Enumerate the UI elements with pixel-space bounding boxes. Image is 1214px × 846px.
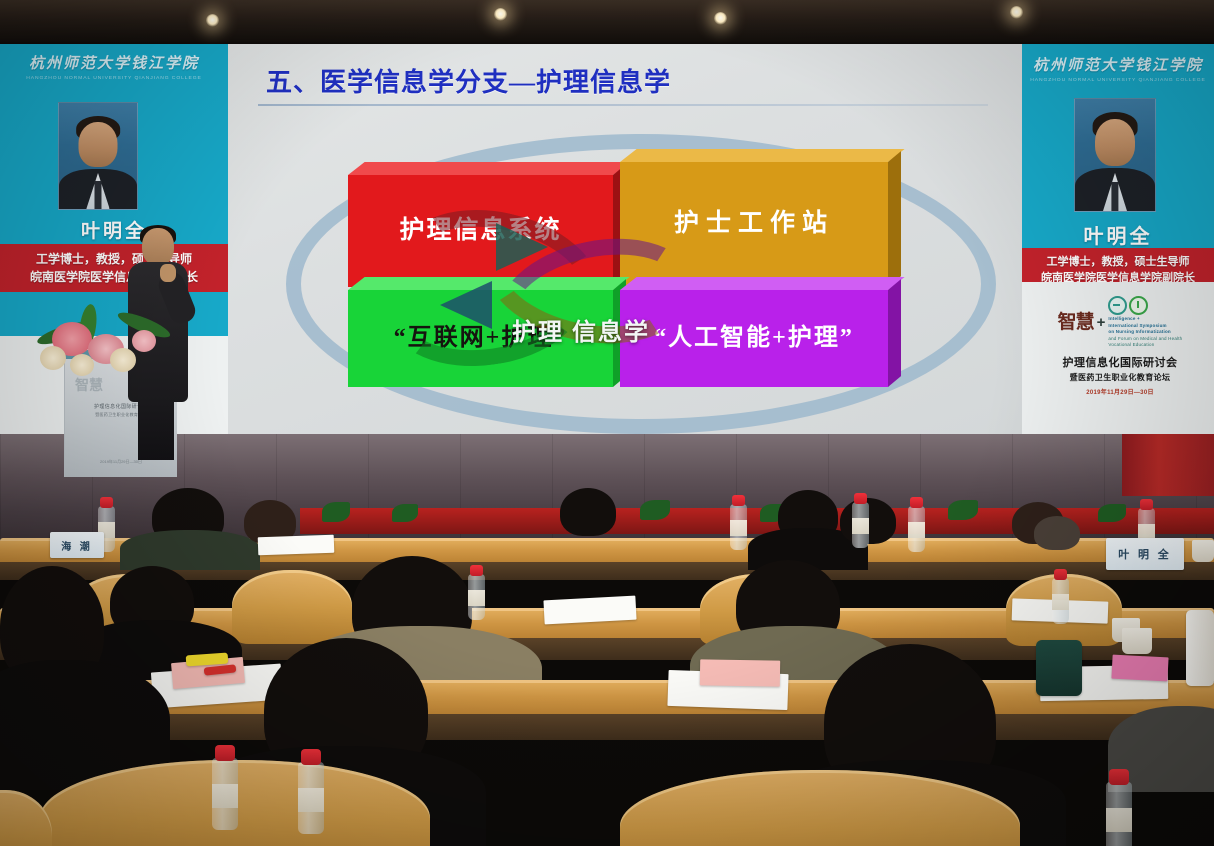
- title-underline: [258, 104, 988, 106]
- conference-en-line-5: Vocational Education: [1108, 342, 1154, 347]
- diagram-block-nursing-information-system: 护理信息系统: [348, 175, 613, 287]
- bottle-label: [908, 522, 925, 538]
- diagram-center-label: 护理 信息学: [456, 312, 706, 347]
- university-logo: 杭州师范大学钱江学院 HANGZHOU NORMAL UNIVERSITY QI…: [1022, 58, 1214, 83]
- portrait-face: [1095, 119, 1135, 166]
- conference-wordmark-cn: 智慧: [1058, 313, 1094, 332]
- portrait-tie: [1111, 182, 1118, 211]
- conference-title-cn: 护理信息化国际研讨会: [1040, 354, 1200, 370]
- presentation-slide: 五、医学信息学分支—护理信息学 护理信息系统 护士工作站 “互联网+护理” “人…: [228, 44, 1022, 434]
- speaker-portrait: [58, 102, 138, 210]
- auditorium-chair-foreground: [0, 790, 52, 846]
- leaf-icon: [1098, 504, 1126, 522]
- leaf-icon: [392, 504, 418, 522]
- bottle-label: [468, 590, 485, 606]
- name-card-haichao: 海 潮: [50, 532, 104, 558]
- ceiling-spotlight: [714, 12, 727, 25]
- water-bottle: [730, 504, 747, 550]
- block-label: 护士工作站: [620, 162, 888, 287]
- speaker-portrait: [1074, 98, 1156, 212]
- flower-icon: [110, 348, 136, 372]
- bottle-label: [852, 518, 869, 534]
- diagram-block-nurse-workstation: 护士工作站: [620, 162, 888, 287]
- university-name-cn: 杭州师范大学钱江学院: [0, 56, 228, 73]
- speaker-name: 叶明全: [1022, 220, 1214, 249]
- presenter-legs: [138, 396, 174, 460]
- bottle-label: [1106, 808, 1132, 832]
- plus-sign-icon: +: [1097, 314, 1106, 331]
- university-name-en: HANGZHOU NORMAL UNIVERSITY QIANJIANG COL…: [0, 76, 228, 81]
- block-label: 护理信息系统: [348, 175, 613, 287]
- podium-flower-arrangement: [34, 300, 174, 388]
- plus-circle-icon: [1129, 296, 1148, 315]
- document-sheet: [258, 535, 335, 556]
- conference-en-line-1: Intelligence +: [1108, 316, 1139, 321]
- bottle-label: [730, 520, 747, 536]
- audience-head: [560, 488, 616, 536]
- water-bottle-foreground: [212, 758, 238, 830]
- bottle-label: [1052, 594, 1069, 610]
- credentials-line-1: 工学博士，教授，硕士生导师: [1047, 254, 1190, 271]
- presenter-head: [142, 228, 174, 266]
- document-sheet: [543, 596, 636, 625]
- ceiling-band: [0, 20, 1214, 42]
- flower-icon: [40, 346, 66, 370]
- bottle-label: [298, 788, 324, 812]
- ceiling: [0, 0, 1214, 46]
- portrait-tie: [94, 181, 101, 209]
- leaf-icon: [322, 502, 350, 522]
- conference-photo: 杭州师范大学钱江学院 HANGZHOU NORMAL UNIVERSITY QI…: [0, 0, 1214, 846]
- water-bottle-foreground: [298, 762, 324, 834]
- water-bottle-foreground: [1106, 782, 1132, 846]
- conference-lockup: 智慧 + Intelligence + International Sympos…: [1040, 296, 1200, 396]
- ceiling-spotlight: [206, 14, 219, 27]
- water-bottle: [852, 502, 869, 548]
- university-name-cn: 杭州师范大学钱江学院: [1022, 58, 1214, 75]
- thermos-cup: [1186, 610, 1214, 686]
- presenter-hand: [160, 264, 176, 282]
- document-sheet-pink: [1111, 655, 1168, 682]
- audience-area: 海 潮 叶 明 全: [0, 470, 1214, 846]
- diagram-blocks: 护理信息系统 护士工作站 “互联网+护理” “人工智能+护理”: [348, 162, 888, 387]
- conference-subtitle-en: Intelligence + International Symposium o…: [1108, 316, 1182, 349]
- ceiling-spotlight: [494, 8, 507, 21]
- ceiling-spotlight: [1010, 6, 1023, 19]
- conference-subtitle-cn: 暨医药卫生职业化教育论坛: [1040, 372, 1200, 383]
- conference-emblem-icons: [1108, 296, 1182, 315]
- portrait-face: [79, 122, 118, 167]
- university-logo: 杭州师范大学钱江学院 HANGZHOU NORMAL UNIVERSITY QI…: [0, 56, 228, 81]
- flower-icon: [132, 330, 156, 352]
- conference-en-line-4: and Forum on Medical and Health: [1108, 336, 1182, 341]
- flower-icon: [70, 354, 94, 376]
- bottle-holder: [1036, 640, 1082, 696]
- paper-cup: [1122, 628, 1152, 654]
- water-bottle: [468, 574, 485, 620]
- name-card-text: 海 潮: [61, 538, 93, 553]
- slide-title: 五、医学信息学分支—护理信息学: [266, 62, 671, 99]
- leaf-icon: [948, 500, 978, 520]
- paper-cup: [1192, 540, 1214, 562]
- water-bottle: [908, 506, 925, 552]
- name-card-text: 叶 明 全: [1118, 546, 1172, 562]
- desk-row-near-shadow: [0, 714, 1214, 740]
- conference-en-line-3: on Nursing Informatization: [1108, 329, 1170, 334]
- name-card-yemingquan: 叶 明 全: [1106, 538, 1184, 570]
- audience-head: [1034, 516, 1080, 550]
- minus-circle-icon: [1108, 296, 1127, 315]
- university-name-en: HANGZHOU NORMAL UNIVERSITY QIANJIANG COL…: [1022, 78, 1214, 83]
- bottle-label: [212, 784, 238, 808]
- audience-shoulders: [120, 530, 260, 570]
- leaf-icon: [640, 500, 670, 520]
- water-bottle: [1052, 578, 1069, 624]
- conference-wordmark: 智慧 + Intelligence + International Sympos…: [1040, 296, 1200, 349]
- conference-date: 2019年11月29日—30日: [1040, 387, 1200, 396]
- document-sheet-pink: [700, 659, 780, 686]
- conference-en-line-2: International Symposium: [1108, 323, 1166, 328]
- auditorium-chair: [232, 570, 352, 644]
